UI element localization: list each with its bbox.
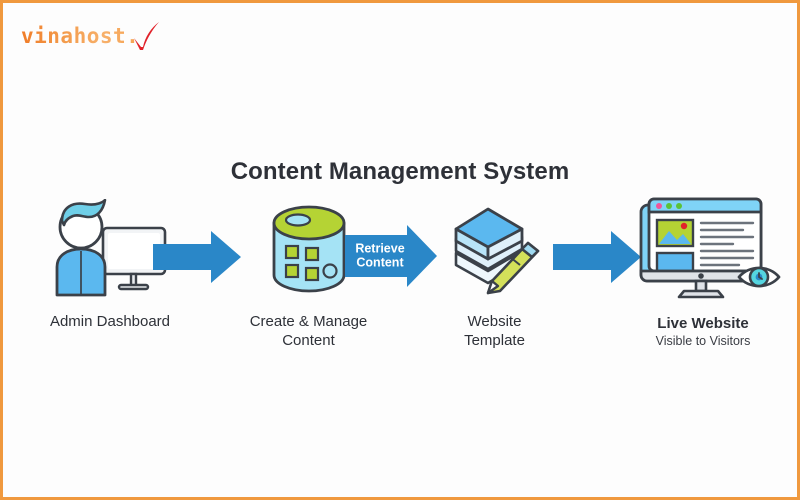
vinahost-logo: vinahost. [19,19,179,59]
desktop-browser-eye-icon [603,193,800,306]
flow-node-live-website: Live Website Visible to Visitors [603,193,800,349]
flow-node-label: Live Website [603,314,800,333]
infographic-frame: vinahost. Content Management System [0,0,800,500]
flow-arrow-retrieve-content: Retrieve Content [345,225,437,287]
flow-node-website-template: Website Template [427,199,562,350]
flow-node-label: Create & Manage Content [231,312,386,350]
layered-template-pencil-icon [427,199,562,304]
flow-node-sublabel: Visible to Visitors [603,333,800,349]
check-mark-icon [131,19,165,53]
flow-arrow-1 [153,231,241,283]
page-title: Content Management System [3,158,797,186]
flow-node-label: Website Template [427,312,562,350]
flow-node-label: Admin Dashboard [25,312,195,331]
logo-wordmark: vinahost. [21,24,139,48]
